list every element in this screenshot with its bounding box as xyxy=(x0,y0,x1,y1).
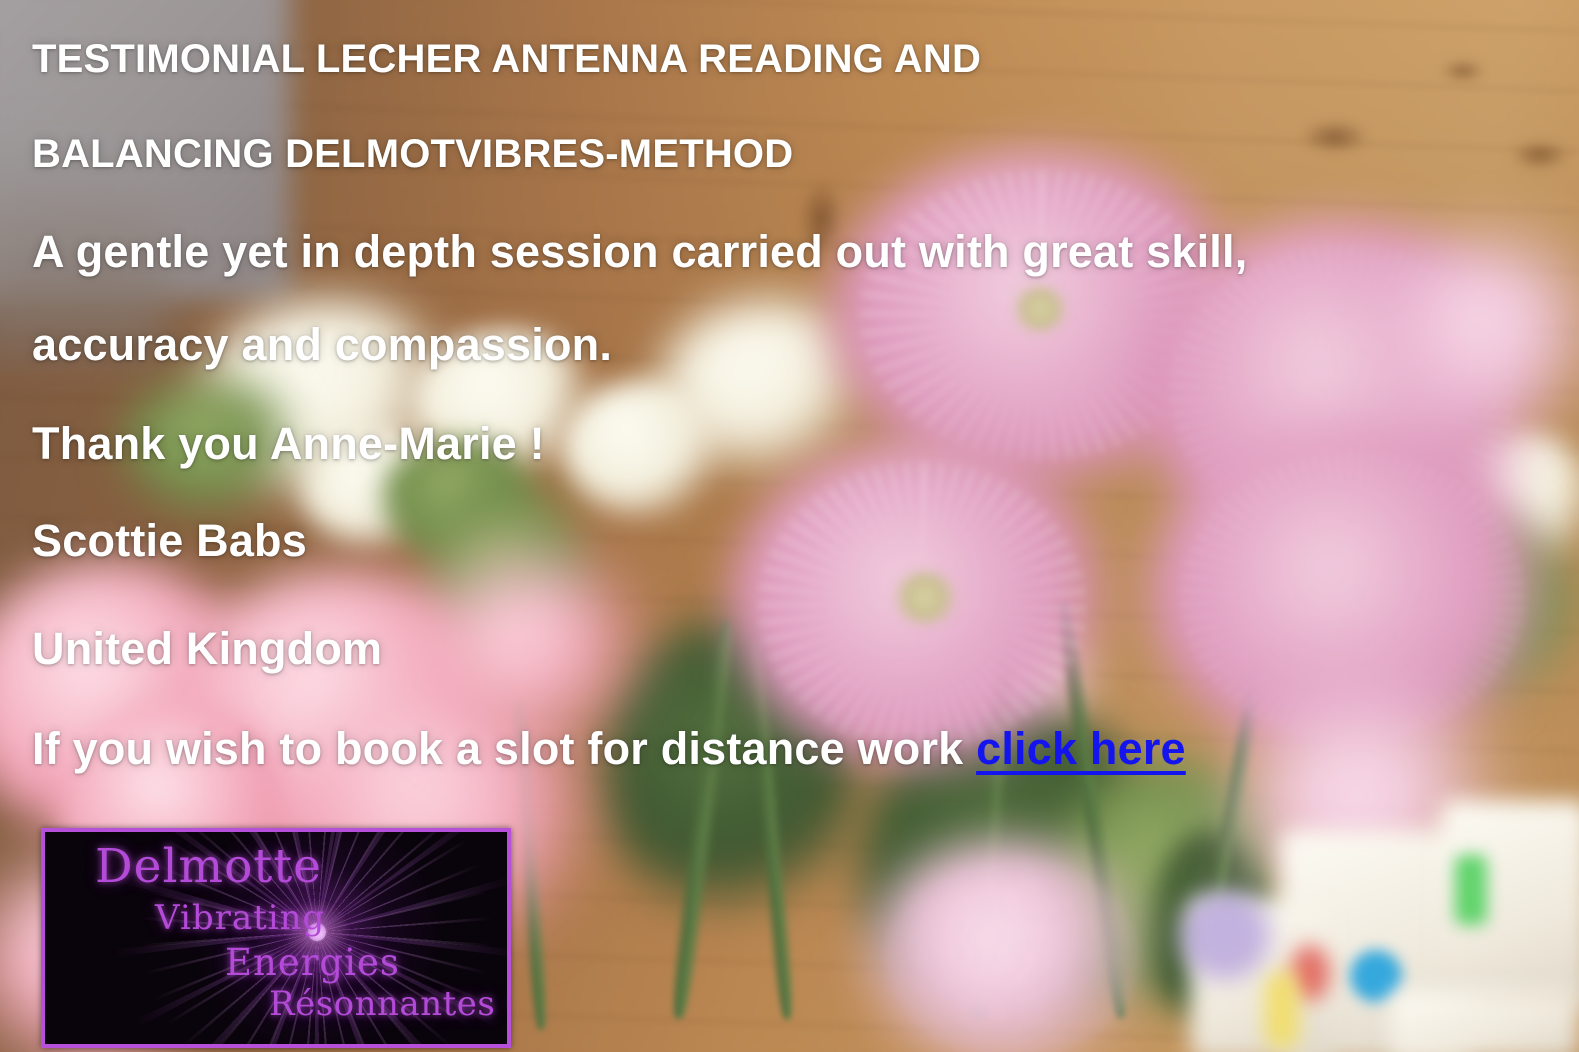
logo-line-resonnantes: Résonnantes ® xyxy=(269,984,511,1024)
click-here-link[interactable]: click here xyxy=(976,723,1186,774)
heading-line-1: TESTIMONIAL LECHER ANTENNA READING AND xyxy=(32,39,981,79)
body-line-2: accuracy and compassion. xyxy=(32,322,612,367)
logo-line-vibrating: Vibrating xyxy=(155,898,325,938)
logo-brand-name: Delmotte xyxy=(95,839,322,894)
body-line-4: Scottie Babs xyxy=(32,518,307,563)
cta-prefix-text: If you wish to book a slot for distance … xyxy=(32,723,976,774)
delmotte-logo[interactable]: Delmotte Vibrating Energies Résonnantes … xyxy=(41,828,511,1048)
testimonial-slide: TESTIMONIAL LECHER ANTENNA READING AND B… xyxy=(0,0,1579,1052)
body-line-3: Thank you Anne-Marie ! xyxy=(32,421,545,466)
cta-line: If you wish to book a slot for distance … xyxy=(32,726,1186,771)
body-line-1: A gentle yet in depth session carried ou… xyxy=(32,229,1247,274)
heading-line-2: BALANCING DELMOTVIBRES-METHOD xyxy=(32,134,793,174)
logo-line-energies: Energies xyxy=(225,941,400,984)
body-line-5: United Kingdom xyxy=(32,626,382,671)
